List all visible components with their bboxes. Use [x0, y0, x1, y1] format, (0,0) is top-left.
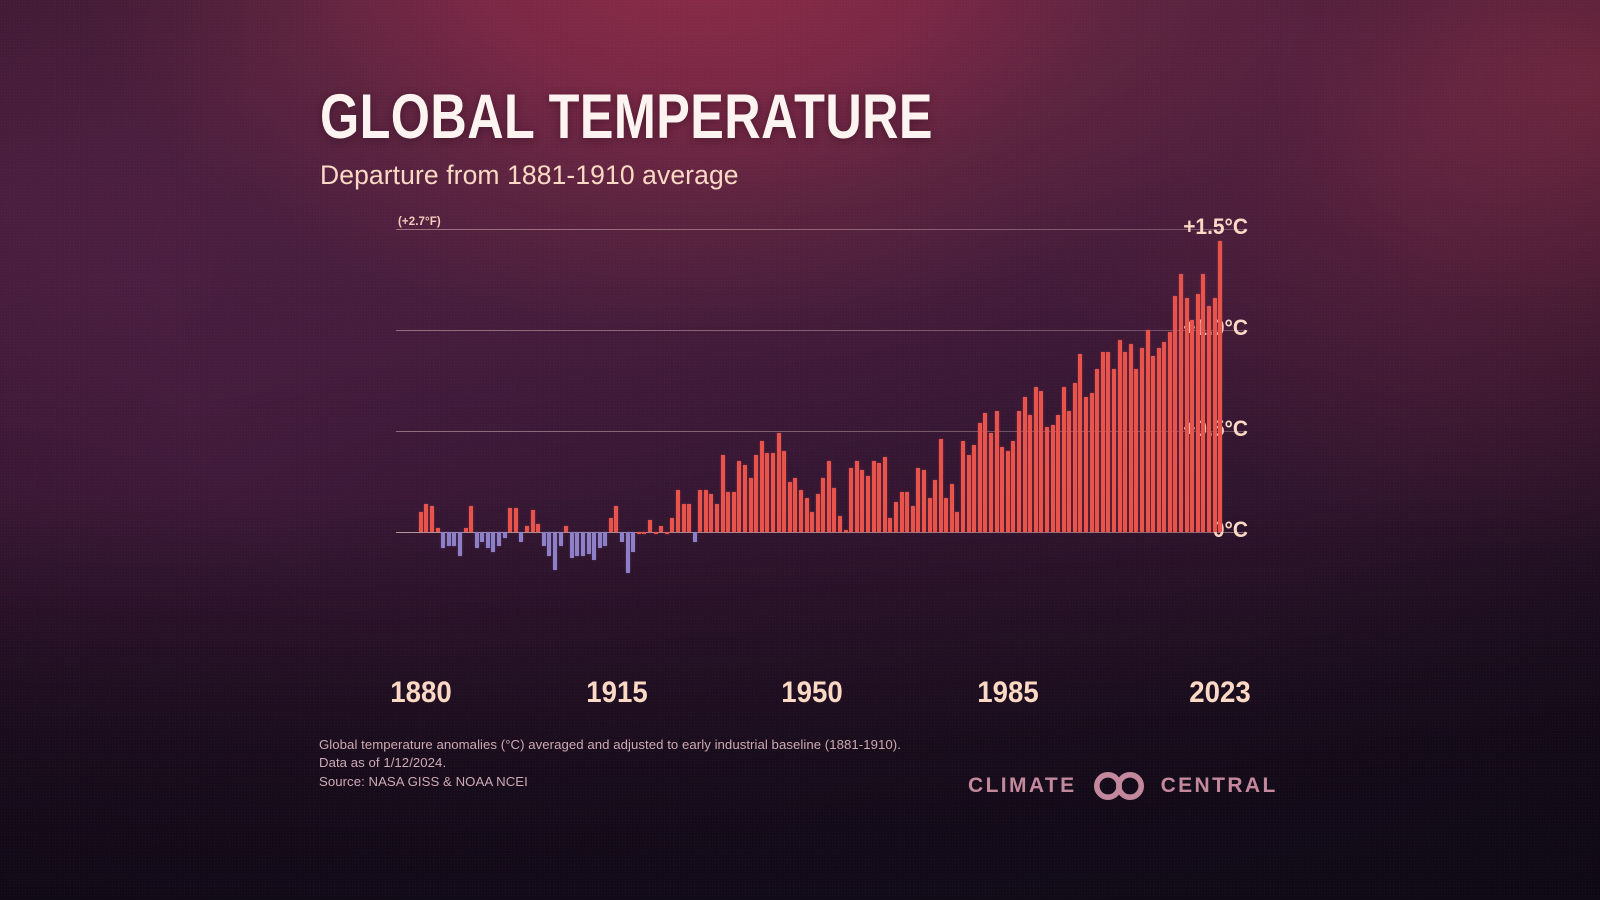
bar	[491, 532, 495, 552]
bar	[905, 492, 909, 532]
bar	[1023, 397, 1027, 532]
bar	[1185, 298, 1189, 532]
bar	[888, 518, 892, 532]
bar	[989, 433, 993, 532]
bar	[1218, 241, 1222, 532]
bar	[709, 494, 713, 532]
infographic-canvas: GLOBAL TEMPERATURE Departure from 1881-1…	[0, 0, 1600, 900]
bar	[827, 461, 831, 532]
bar	[721, 455, 725, 532]
bar	[687, 504, 691, 532]
bar	[715, 504, 719, 532]
bar	[967, 455, 971, 532]
bar	[626, 532, 630, 572]
bar	[575, 532, 579, 556]
bar	[799, 490, 803, 532]
bar	[1118, 340, 1122, 532]
bar	[514, 508, 518, 532]
bar	[475, 532, 479, 548]
bar	[1106, 352, 1110, 532]
bars-plot-area	[418, 205, 1223, 623]
bar	[916, 468, 920, 533]
bar	[838, 516, 842, 532]
bar	[553, 532, 557, 570]
x-axis-tick-label: 1880	[390, 676, 451, 710]
header: GLOBAL TEMPERATURE Departure from 1881-1…	[320, 86, 1086, 191]
bar	[777, 433, 781, 532]
bar	[598, 532, 602, 548]
bar	[648, 520, 652, 532]
bar	[1207, 306, 1211, 532]
x-axis-labels: 18801915195019852023	[318, 676, 1248, 716]
bar	[441, 532, 445, 548]
bar	[782, 451, 786, 532]
bar	[654, 532, 658, 534]
bar	[1129, 344, 1133, 532]
bar	[1078, 354, 1082, 532]
bar	[944, 498, 948, 532]
footer-notes: Global temperature anomalies (°C) averag…	[319, 736, 901, 791]
bar	[1112, 369, 1116, 533]
bar	[894, 502, 898, 532]
bar	[1140, 348, 1144, 532]
bar	[754, 455, 758, 532]
bar	[743, 465, 747, 532]
bar	[547, 532, 551, 556]
bar	[771, 453, 775, 532]
bar	[737, 461, 741, 532]
bar	[531, 510, 535, 532]
logo-word-central: CENTRAL	[1161, 772, 1278, 800]
bar	[419, 512, 423, 532]
bar	[570, 532, 574, 558]
bar	[978, 423, 982, 532]
page-title: GLOBAL TEMPERATURE	[320, 86, 933, 148]
logo-word-climate: CLIMATE	[968, 772, 1077, 800]
bar	[1067, 411, 1071, 532]
bar	[564, 526, 568, 532]
bar	[922, 470, 926, 533]
bar	[1017, 411, 1021, 532]
bar	[508, 508, 512, 532]
bar	[877, 463, 881, 532]
bar	[788, 482, 792, 532]
bar	[614, 506, 618, 532]
bar	[810, 512, 814, 532]
bar	[497, 532, 501, 546]
bar	[816, 494, 820, 532]
bar	[749, 478, 753, 533]
bar	[1006, 451, 1010, 532]
bar	[1168, 332, 1172, 532]
bar	[832, 488, 836, 532]
bar	[1196, 294, 1200, 532]
bar	[765, 453, 769, 532]
climate-central-logo: CLIMATE CENTRAL	[968, 772, 1278, 800]
bar	[519, 532, 523, 542]
bar	[805, 498, 809, 532]
bar	[933, 480, 937, 533]
bar	[911, 506, 915, 532]
bar	[670, 518, 674, 532]
footer-line-source: Source: NASA GISS & NOAA NCEI	[319, 773, 901, 791]
bar	[1051, 425, 1055, 532]
bar	[939, 439, 943, 532]
bar	[620, 532, 624, 542]
bar	[536, 524, 540, 532]
bar	[1134, 369, 1138, 533]
page-subtitle: Departure from 1881-1910 average	[320, 160, 1086, 191]
bar	[637, 532, 641, 534]
bar	[1201, 274, 1205, 532]
bar	[1034, 387, 1038, 532]
bar	[732, 492, 736, 532]
bar	[1157, 348, 1161, 532]
bar	[559, 532, 563, 546]
bar	[1073, 383, 1077, 532]
bar	[592, 532, 596, 560]
x-axis-tick-label: 1950	[781, 676, 842, 710]
bar	[950, 484, 954, 532]
bar	[872, 461, 876, 532]
bar	[1062, 387, 1066, 532]
footer-line-methodology: Global temperature anomalies (°C) averag…	[319, 736, 901, 754]
bar	[1045, 427, 1049, 532]
bar	[642, 532, 646, 534]
interlocking-rings-icon	[1088, 772, 1150, 800]
bar	[760, 441, 764, 532]
bar	[447, 532, 451, 546]
bar	[631, 532, 635, 552]
bar	[726, 492, 730, 532]
bar	[659, 526, 663, 532]
bar	[1028, 415, 1032, 532]
bar	[793, 478, 797, 533]
bar	[1179, 274, 1183, 532]
bar	[855, 461, 859, 532]
bar	[698, 490, 702, 532]
bar	[464, 528, 468, 532]
bar	[983, 413, 987, 532]
bar	[603, 532, 607, 546]
bar	[452, 532, 456, 546]
bar	[587, 532, 591, 554]
bar	[883, 457, 887, 532]
bar	[900, 492, 904, 532]
bar	[1151, 356, 1155, 532]
bar	[928, 498, 932, 532]
temperature-anomaly-bar-chart: +1.5°C+1.0°C+0.5°C0°C(+2.7°F)	[318, 205, 1248, 623]
bar	[995, 411, 999, 532]
bar	[525, 526, 529, 532]
bar	[1173, 296, 1177, 532]
bar	[503, 532, 507, 538]
bar	[1190, 320, 1194, 532]
x-axis-tick-label: 2023	[1189, 676, 1250, 710]
bar	[486, 532, 490, 548]
bar	[581, 532, 585, 556]
bar	[469, 506, 473, 532]
bar	[1084, 397, 1088, 532]
bar	[693, 532, 697, 542]
bar	[609, 518, 613, 532]
bar	[436, 528, 440, 532]
x-axis-tick-label: 1915	[586, 676, 647, 710]
bar	[676, 490, 680, 532]
bar	[1011, 441, 1015, 532]
bar	[704, 490, 708, 532]
bar	[1162, 342, 1166, 532]
bar	[1090, 393, 1094, 532]
x-axis-tick-label: 1985	[977, 676, 1038, 710]
bar	[821, 478, 825, 533]
bar	[424, 504, 428, 532]
bar	[1000, 447, 1004, 532]
bar	[1101, 352, 1105, 532]
bar	[955, 512, 959, 532]
bar	[849, 468, 853, 533]
bar	[682, 504, 686, 532]
bar	[480, 532, 484, 542]
bar	[1056, 415, 1060, 532]
bar	[430, 506, 434, 532]
bar	[844, 530, 848, 532]
bar	[665, 532, 669, 534]
bar	[1123, 352, 1127, 532]
bar	[961, 441, 965, 532]
bar	[458, 532, 462, 556]
bar	[860, 470, 864, 533]
bar	[1095, 369, 1099, 533]
bar	[866, 476, 870, 533]
bar	[1039, 391, 1043, 532]
bar	[972, 445, 976, 532]
bar	[1213, 298, 1217, 532]
bar	[542, 532, 546, 546]
footer-line-data-date: Data as of 1/12/2024.	[319, 754, 901, 772]
bar	[1146, 330, 1150, 532]
